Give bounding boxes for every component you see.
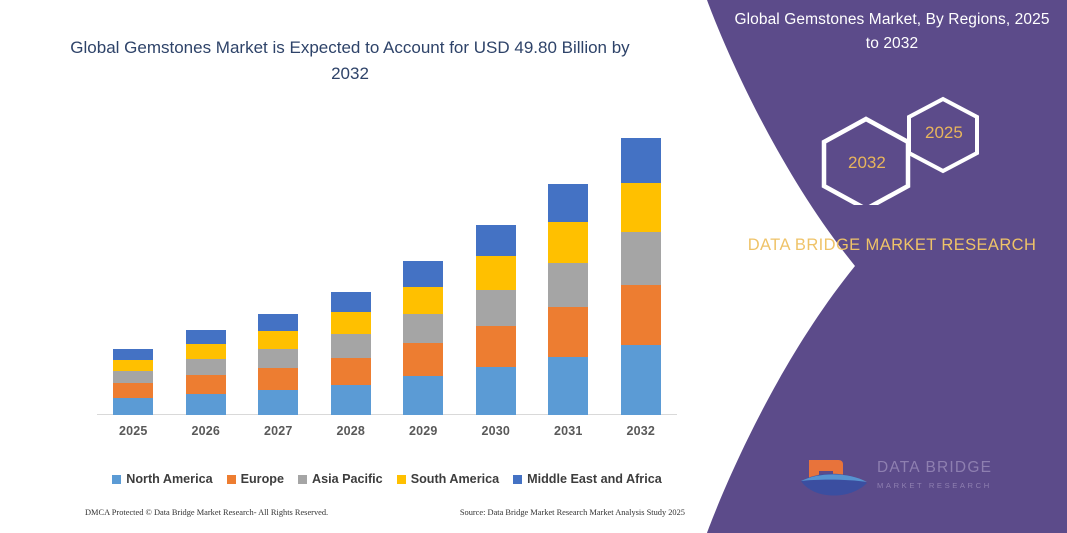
- bar-segment[interactable]: [113, 398, 153, 415]
- bar-segment[interactable]: [186, 375, 226, 394]
- bar-segment[interactable]: [113, 371, 153, 383]
- legend-label: Europe: [241, 472, 284, 486]
- stacked-bar[interactable]: [621, 138, 661, 415]
- bar-segment[interactable]: [258, 390, 298, 415]
- x-axis-label: 2030: [460, 424, 532, 438]
- logo-name-text: DATA BRIDGE: [877, 460, 992, 476]
- bar-series-container: [97, 115, 677, 415]
- legend-label: Middle East and Africa: [527, 472, 662, 486]
- bar-column-2026[interactable]: [170, 115, 242, 415]
- bar-segment[interactable]: [548, 357, 588, 415]
- footer-source: Source: Data Bridge Market Research Mark…: [460, 508, 685, 517]
- brand-name: DATA BRIDGE MARKET RESEARCH: [732, 232, 1052, 258]
- bar-segment[interactable]: [476, 326, 516, 367]
- bar-segment[interactable]: [186, 359, 226, 375]
- bar-column-2030[interactable]: [460, 115, 532, 415]
- branding-panel: Global Gemstones Market, By Regions, 202…: [687, 0, 1067, 533]
- hexagon-graphic: 2025 2032: [745, 95, 1025, 205]
- bar-segment[interactable]: [113, 349, 153, 360]
- legend-label: North America: [126, 472, 212, 486]
- infographic-canvas: Global Gemstones Market is Expected to A…: [0, 0, 1067, 533]
- bar-segment[interactable]: [258, 314, 298, 331]
- x-axis-label: 2026: [170, 424, 242, 438]
- x-axis-label: 2029: [387, 424, 459, 438]
- bar-segment[interactable]: [548, 307, 588, 357]
- bar-segment[interactable]: [331, 385, 371, 415]
- bar-segment[interactable]: [331, 334, 371, 357]
- legend-label: Asia Pacific: [312, 472, 383, 486]
- bar-segment[interactable]: [476, 225, 516, 256]
- bar-segment[interactable]: [548, 263, 588, 307]
- chart-legend: North AmericaEuropeAsia PacificSouth Ame…: [97, 472, 677, 486]
- x-axis-label: 2031: [532, 424, 604, 438]
- bar-segment[interactable]: [331, 292, 371, 313]
- footer: DMCA Protected © Data Bridge Market Rese…: [85, 508, 685, 517]
- bar-segment[interactable]: [476, 290, 516, 326]
- hexagon-pair-icon: [745, 95, 1025, 205]
- logo-subtitle-text: MARKET RESEARCH: [877, 481, 992, 490]
- bar-segment[interactable]: [621, 345, 661, 415]
- bar-segment[interactable]: [258, 349, 298, 368]
- legend-swatch-icon: [227, 475, 236, 484]
- x-axis-label: 2025: [97, 424, 169, 438]
- bar-segment[interactable]: [186, 344, 226, 359]
- bar-segment[interactable]: [548, 184, 588, 222]
- legend-label: South America: [411, 472, 499, 486]
- bar-segment[interactable]: [621, 183, 661, 232]
- legend-swatch-icon: [397, 475, 406, 484]
- x-axis-label: 2032: [605, 424, 677, 438]
- hexagon-2025-label: 2025: [925, 123, 963, 143]
- bar-segment[interactable]: [331, 312, 371, 334]
- bar-column-2027[interactable]: [242, 115, 314, 415]
- legend-item[interactable]: Asia Pacific: [298, 472, 383, 486]
- bar-column-2031[interactable]: [532, 115, 604, 415]
- chart-title: Global Gemstones Market is Expected to A…: [70, 35, 630, 87]
- data-bridge-logo-icon: [797, 455, 872, 505]
- bar-column-2032[interactable]: [605, 115, 677, 415]
- bar-segment[interactable]: [113, 360, 153, 372]
- bar-segment[interactable]: [621, 285, 661, 346]
- bar-segment[interactable]: [621, 138, 661, 184]
- company-logo: DATA BRIDGE MARKET RESEARCH: [797, 455, 1047, 515]
- stacked-bar[interactable]: [186, 330, 226, 415]
- stacked-bar[interactable]: [258, 314, 298, 415]
- legend-item[interactable]: South America: [397, 472, 499, 486]
- bar-segment[interactable]: [258, 368, 298, 390]
- hexagon-2032-label: 2032: [848, 153, 886, 173]
- panel-title: Global Gemstones Market, By Regions, 202…: [732, 8, 1052, 56]
- legend-item[interactable]: Europe: [227, 472, 284, 486]
- bar-segment[interactable]: [113, 383, 153, 398]
- bar-segment[interactable]: [548, 222, 588, 263]
- bar-column-2029[interactable]: [387, 115, 459, 415]
- x-axis-label: 2028: [315, 424, 387, 438]
- bar-segment[interactable]: [403, 261, 443, 286]
- stacked-bar[interactable]: [113, 349, 153, 415]
- stacked-bar[interactable]: [331, 292, 371, 415]
- x-axis-labels: 20252026202720282029203020312032: [97, 424, 677, 438]
- bar-segment[interactable]: [403, 343, 443, 377]
- bar-segment[interactable]: [403, 287, 443, 314]
- bar-segment[interactable]: [331, 358, 371, 385]
- bar-segment[interactable]: [476, 367, 516, 415]
- bar-segment[interactable]: [403, 376, 443, 415]
- bar-segment[interactable]: [621, 232, 661, 284]
- bar-segment[interactable]: [186, 330, 226, 344]
- chart-region: Global Gemstones Market is Expected to A…: [0, 0, 700, 533]
- legend-item[interactable]: Middle East and Africa: [513, 472, 662, 486]
- bar-segment[interactable]: [186, 394, 226, 415]
- stacked-bar[interactable]: [476, 225, 516, 415]
- stacked-bar[interactable]: [403, 261, 443, 415]
- bar-column-2028[interactable]: [315, 115, 387, 415]
- x-axis-label: 2027: [242, 424, 314, 438]
- legend-swatch-icon: [298, 475, 307, 484]
- bar-column-2025[interactable]: [97, 115, 169, 415]
- bar-segment[interactable]: [476, 256, 516, 290]
- footer-copyright: DMCA Protected © Data Bridge Market Rese…: [85, 508, 328, 517]
- bar-segment[interactable]: [258, 331, 298, 349]
- bar-segment[interactable]: [403, 314, 443, 343]
- legend-item[interactable]: North America: [112, 472, 212, 486]
- legend-swatch-icon: [513, 475, 522, 484]
- legend-swatch-icon: [112, 475, 121, 484]
- stacked-bar[interactable]: [548, 184, 588, 415]
